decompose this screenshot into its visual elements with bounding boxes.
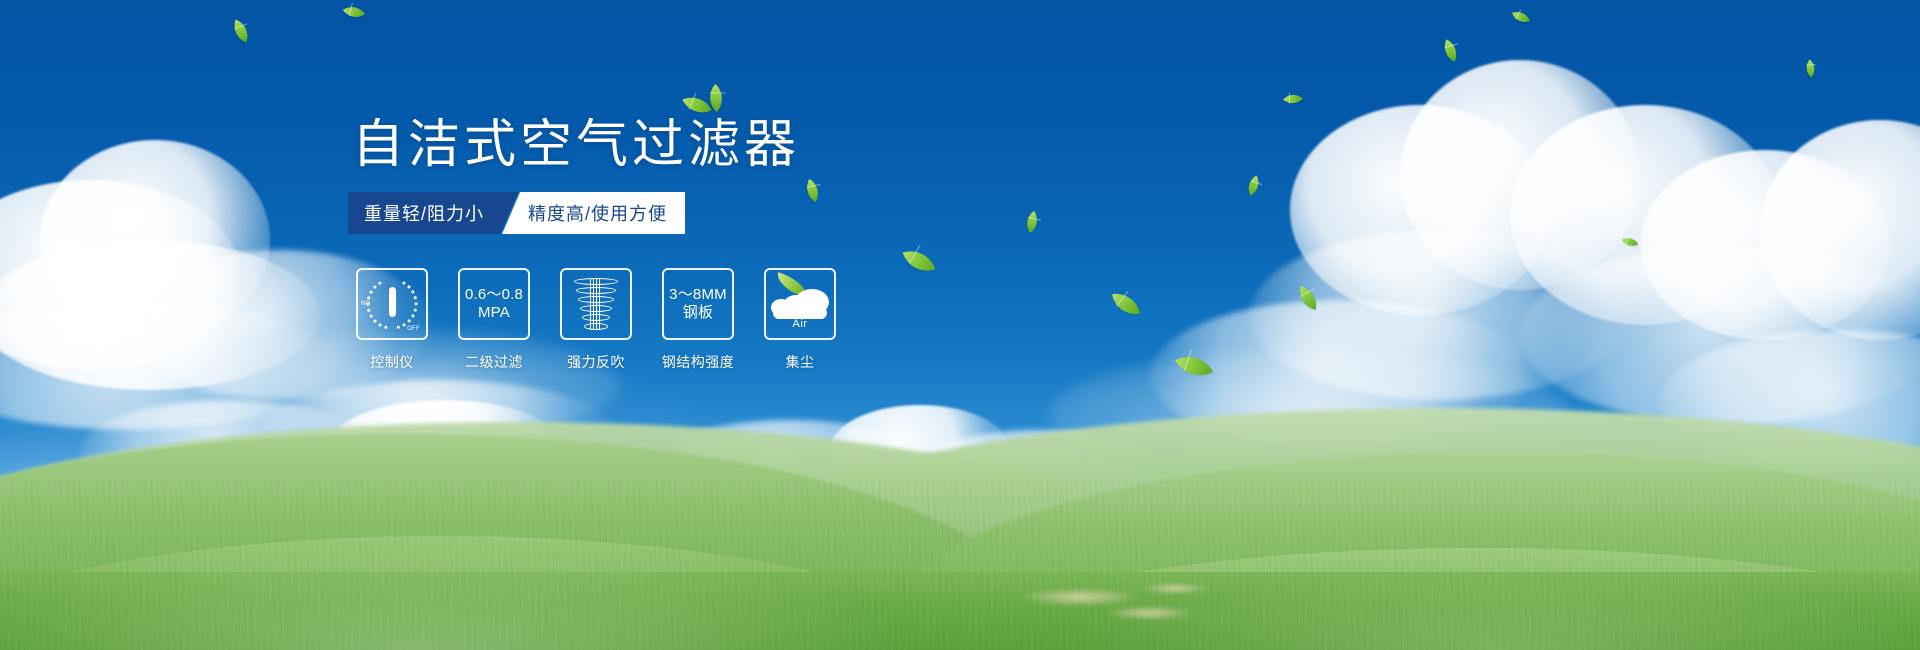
coil-icon [572, 276, 620, 332]
feature-icon-box: NO OFF [356, 268, 428, 340]
coil-ring [576, 287, 616, 294]
feature-icon-box: Air [764, 268, 836, 340]
feature-list: NO OFF 控制仪 0.6～0.8 MPA 二级过滤 [356, 268, 836, 372]
dial-tick [369, 314, 373, 318]
dial-tick [396, 325, 400, 329]
subtitle-pill-left: 重量轻/阻力小 [348, 192, 518, 234]
pressure-range: 0.6～0.8 [465, 286, 523, 304]
feature-item-dust: Air 集尘 [764, 268, 836, 372]
dial-tick [402, 281, 406, 285]
feature-item-blowback: 强力反吹 [560, 268, 632, 372]
page-title: 自洁式空气过滤器 [352, 118, 800, 173]
feature-item-control: NO OFF 控制仪 [356, 268, 428, 372]
hero-banner: 自洁式空气过滤器 重量轻/阻力小 精度高/使用方便 [0, 0, 1920, 650]
feature-icon-box: 0.6～0.8 MPA [458, 268, 530, 340]
dial-icon: NO OFF [362, 275, 422, 333]
dial-label-off: OFF [407, 326, 420, 332]
dial-label-on: NO [361, 301, 371, 307]
dial-tick [384, 325, 388, 329]
dial-tick [402, 323, 406, 327]
dial-tick [367, 308, 371, 312]
coil-ring [584, 323, 608, 330]
subtitle-bar: 重量轻/阻力小 精度高/使用方便 [348, 192, 685, 234]
feature-label: 集尘 [786, 352, 815, 372]
dial-tick [407, 319, 412, 324]
coil-ring [574, 278, 618, 285]
pressure-unit: MPA [465, 304, 523, 322]
dial-tick [373, 285, 378, 290]
cloud-air-icon: Air [769, 279, 831, 329]
steel-range: 3～8MM [669, 286, 727, 304]
dial-needle [389, 287, 396, 317]
feature-item-pressure: 0.6～0.8 MPA 二级过滤 [458, 268, 530, 372]
dial-tick [378, 281, 382, 285]
dial-tick [378, 323, 382, 327]
dial-tick [411, 290, 415, 294]
dial-tick [411, 314, 415, 318]
dial-tick [413, 296, 417, 300]
subtitle-pill-right: 精度高/使用方便 [502, 192, 685, 234]
dial-tick [373, 319, 378, 324]
dial-tick [367, 296, 371, 300]
feature-label: 钢结构强度 [662, 352, 735, 372]
coil-ring [582, 314, 610, 321]
steel-icon: 3～8MM 钢板 [669, 286, 727, 321]
dial-tick [407, 285, 412, 290]
steel-unit: 钢板 [669, 304, 727, 322]
pressure-icon: 0.6～0.8 MPA [465, 286, 523, 321]
coil-ring [578, 296, 614, 303]
dial-tick [414, 302, 417, 305]
feature-icon-box [560, 268, 632, 340]
dial-tick [369, 290, 373, 294]
air-label: Air [769, 318, 831, 330]
feature-label: 强力反吹 [567, 352, 625, 372]
banner-content: 自洁式空气过滤器 重量轻/阻力小 精度高/使用方便 [0, 0, 1920, 650]
feature-icon-box: 3～8MM 钢板 [662, 268, 734, 340]
coil-ring [580, 305, 612, 312]
feature-label: 二级过滤 [465, 352, 523, 372]
feature-label: 控制仪 [370, 352, 414, 372]
feature-item-steel: 3～8MM 钢板 钢结构强度 [662, 268, 734, 372]
dial-tick [413, 308, 417, 312]
